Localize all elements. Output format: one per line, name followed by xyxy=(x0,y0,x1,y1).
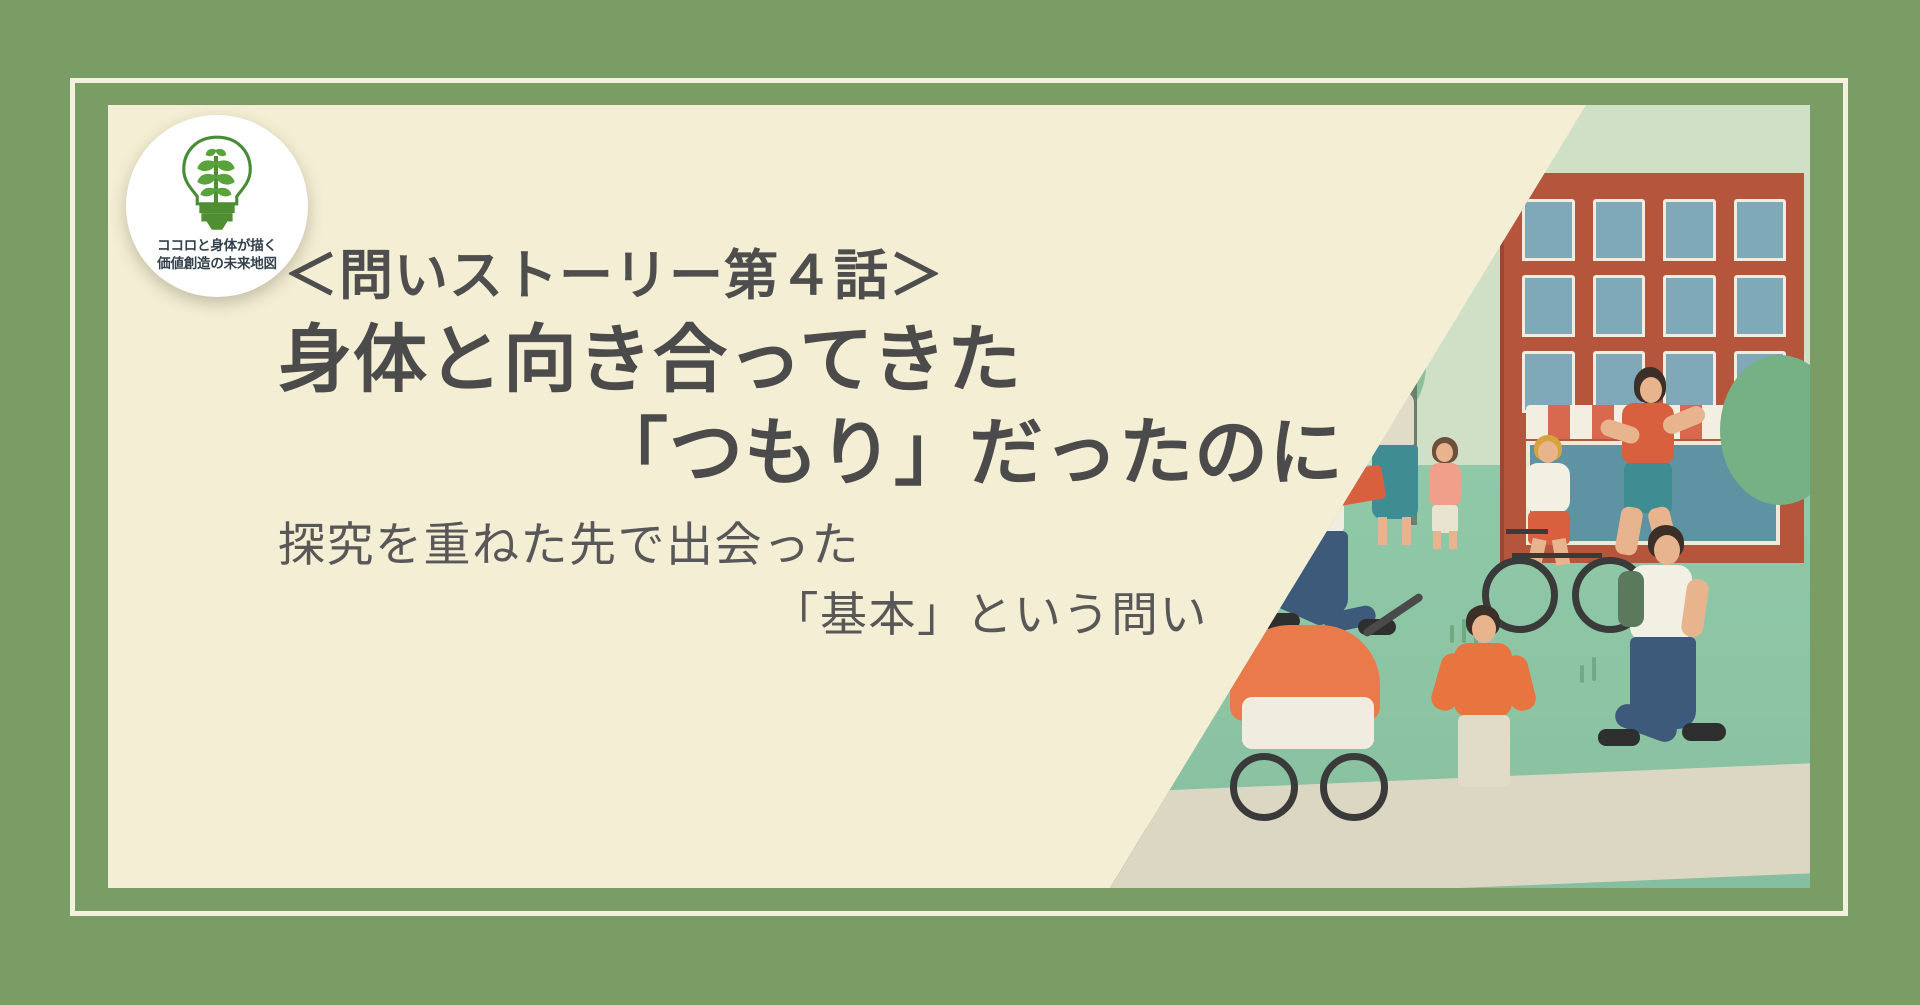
slide-canvas: ココロと身体が描く 価値創造の未来地図 ＜問いストーリー第４話＞ 身体と向き合っ… xyxy=(0,0,1920,1005)
window-icon xyxy=(1663,199,1716,261)
person-boy-orange xyxy=(1436,605,1536,805)
window-icon xyxy=(1522,199,1575,261)
window-icon xyxy=(1663,275,1716,337)
person-man-walking xyxy=(1596,525,1746,775)
episode-label: ＜問いストーリー第４話＞ xyxy=(278,245,1348,307)
brand-tagline: ココロと身体が描く 価値創造の未来地図 xyxy=(157,237,277,273)
window-icon xyxy=(1734,275,1787,337)
brand-tagline-line2: 価値創造の未来地図 xyxy=(157,255,277,273)
window-icon xyxy=(1522,351,1575,413)
window-icon xyxy=(1593,275,1646,337)
headline-line-2: 「つもり」だったのに xyxy=(278,406,1348,499)
stroller-wheel-icon xyxy=(1320,753,1388,821)
person-child xyxy=(1422,437,1468,549)
subtitle-line-1: 探究を重ねた先で出会った xyxy=(278,510,1348,581)
window-icon xyxy=(1522,275,1575,337)
page-subtitle: 探究を重ねた先で出会った 「基本」という問い xyxy=(278,510,1348,651)
person-cyclist xyxy=(1508,435,1592,565)
slide-text-block: ＜問いストーリー第４話＞ 身体と向き合ってきた 「つもり」だったのに 探究を重ね… xyxy=(278,245,1348,651)
lamp-head-icon xyxy=(1396,307,1430,320)
lightbulb-plant-icon xyxy=(165,131,269,235)
stroller-wheel-icon xyxy=(1230,753,1298,821)
bicycle-frame xyxy=(1512,551,1602,558)
bicycle-handlebar xyxy=(1506,525,1548,534)
page-title: 身体と向き合ってきた 「つもり」だったのに xyxy=(278,313,1348,499)
window-icon xyxy=(1593,199,1646,261)
window-icon xyxy=(1734,199,1787,261)
slide-card: ココロと身体が描く 価値創造の未来地図 ＜問いストーリー第４話＞ 身体と向き合っ… xyxy=(108,105,1810,888)
subtitle-line-2: 「基本」という問い xyxy=(278,580,1348,651)
headline-line-1: 身体と向き合ってきた xyxy=(278,313,1348,406)
brand-tagline-line1: ココロと身体が描く xyxy=(157,237,277,255)
grass-tuft-icon xyxy=(1580,665,1584,683)
